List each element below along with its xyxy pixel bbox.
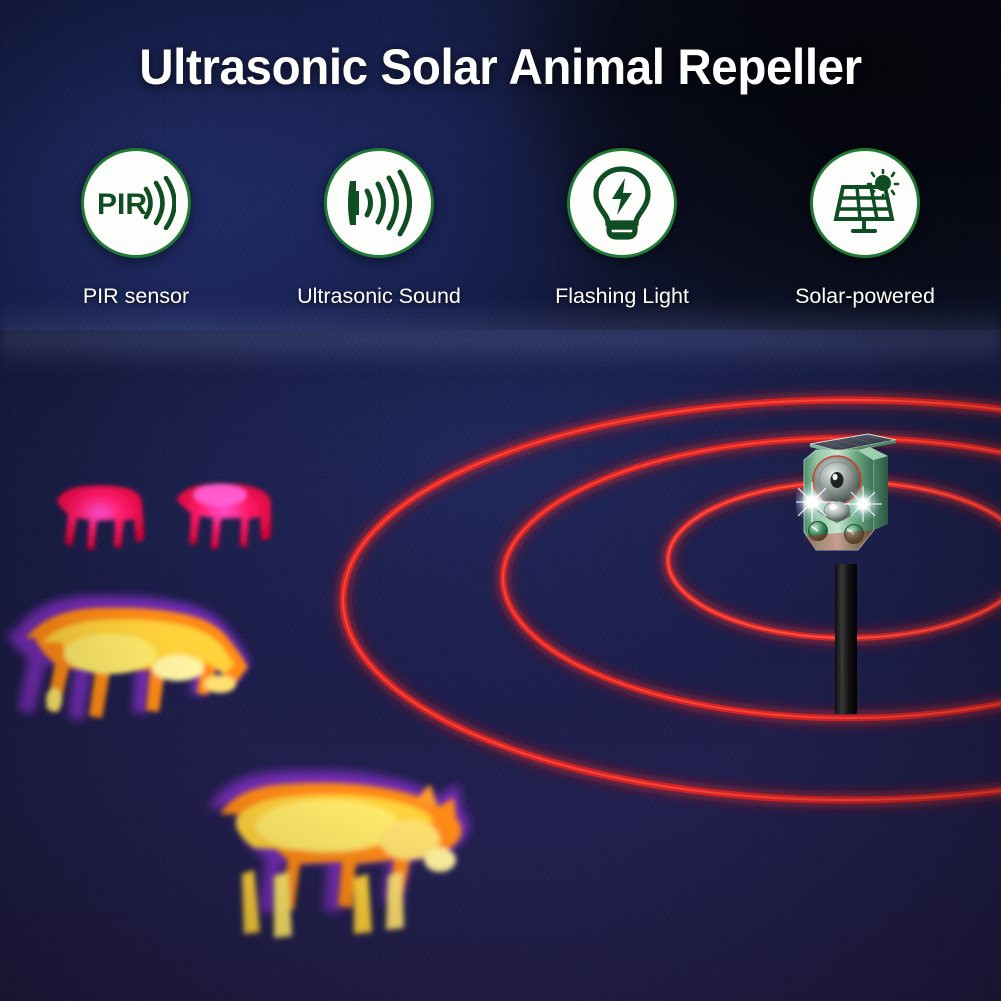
badge-circle-pir: PIR [81,148,191,258]
feature-label-solar: Solar-powered [795,284,935,309]
feature-label-ultrasonic: Ultrasonic Sound [297,284,461,309]
badge-circle-ultrasonic [324,148,434,258]
feature-pir-sensor[interactable]: PIR PIR sensor [46,148,226,309]
ultrasonic-wave-icon [342,169,416,237]
solar-panel-icon [828,169,902,237]
feature-flashing-light[interactable]: Flashing Light [532,148,712,309]
page-title: Ultrasonic Solar Animal Repeller [25,41,976,94]
device-body [796,426,901,576]
feature-solar-powered[interactable]: Solar-powered [775,148,955,309]
feature-label-pir: PIR sensor [83,284,189,309]
feature-label-light: Flashing Light [555,284,689,309]
pir-badge-text: PIR [97,188,147,221]
feature-ultrasonic-sound[interactable]: Ultrasonic Sound [289,148,469,309]
light-bulb-icon [592,166,652,240]
ground-stake [835,564,857,714]
badge-circle-light [567,148,677,258]
repeller-device [790,404,920,714]
feature-badges-row: PIR PIR sensor [0,148,1001,309]
product-marketing-image: Ultrasonic Solar Animal Repeller PIR PIR… [0,0,1001,1001]
pir-sensor-icon: PIR [96,176,176,230]
badge-circle-solar [810,148,920,258]
